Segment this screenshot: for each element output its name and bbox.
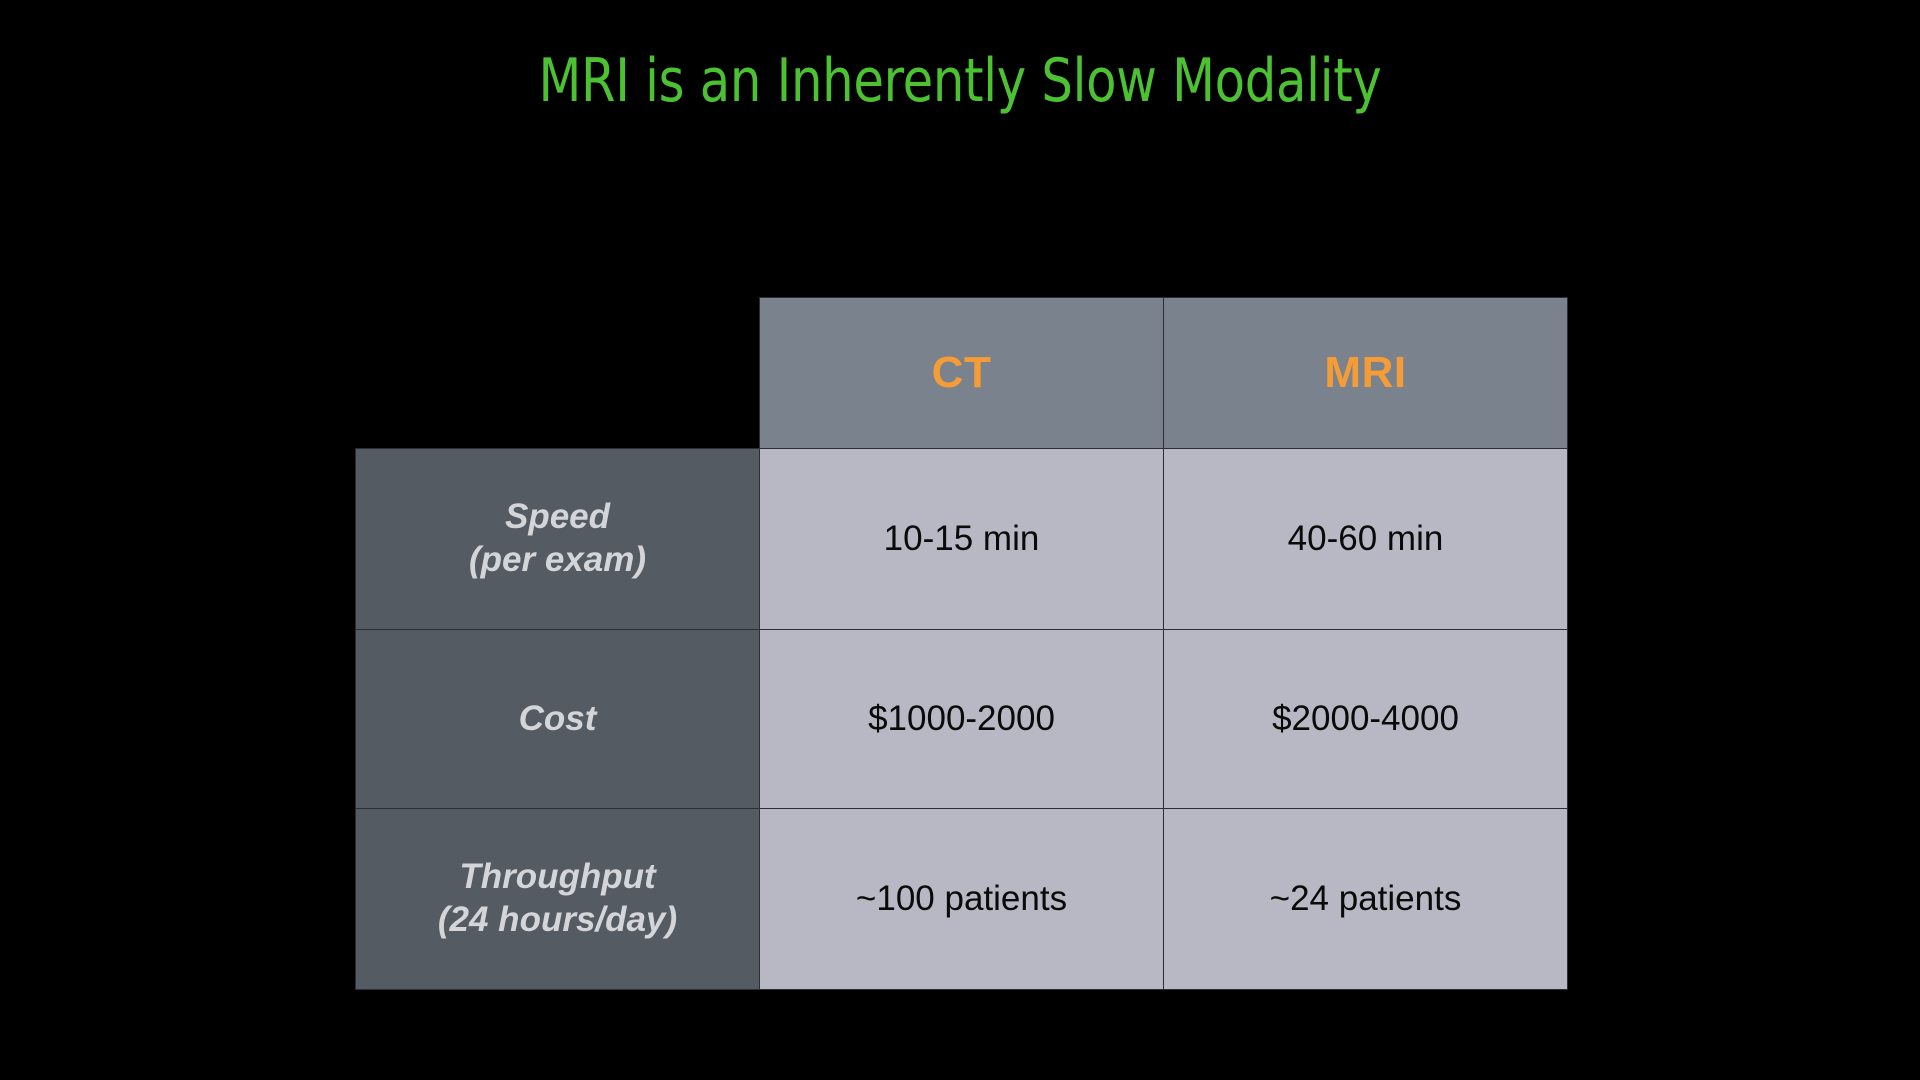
table-row: Cost $1000-2000 $2000-4000: [356, 630, 1568, 809]
cell-throughput-mri: ~24 patients: [1164, 809, 1568, 990]
row-label-cost-line1: Cost: [374, 698, 741, 741]
cell-speed-mri: 40-60 min: [1164, 449, 1568, 630]
cell-throughput-ct: ~100 patients: [760, 809, 1164, 990]
slide-title: MRI is an Inherently Slow Modality: [77, 48, 1843, 115]
table-header-row: CT MRI: [356, 298, 1568, 449]
row-label-speed-line1: Speed: [374, 496, 741, 539]
table-corner-cell: [356, 298, 760, 449]
modality-comparison-table: CT MRI Speed (per exam) 10-15 min 40-60 …: [355, 297, 1568, 990]
row-label-throughput-line1: Throughput: [374, 856, 741, 899]
row-label-cost: Cost: [356, 630, 760, 809]
column-header-mri: MRI: [1164, 298, 1568, 449]
cell-cost-mri: $2000-4000: [1164, 630, 1568, 809]
table-row: Throughput (24 hours/day) ~100 patients …: [356, 809, 1568, 990]
row-label-speed-line2: (per exam): [374, 539, 741, 582]
comparison-table-container: CT MRI Speed (per exam) 10-15 min 40-60 …: [355, 297, 1567, 990]
cell-speed-ct: 10-15 min: [760, 449, 1164, 630]
table-row: Speed (per exam) 10-15 min 40-60 min: [356, 449, 1568, 630]
cell-cost-ct: $1000-2000: [760, 630, 1164, 809]
column-header-ct: CT: [760, 298, 1164, 449]
row-label-speed: Speed (per exam): [356, 449, 760, 630]
row-label-throughput: Throughput (24 hours/day): [356, 809, 760, 990]
row-label-throughput-line2: (24 hours/day): [374, 899, 741, 942]
